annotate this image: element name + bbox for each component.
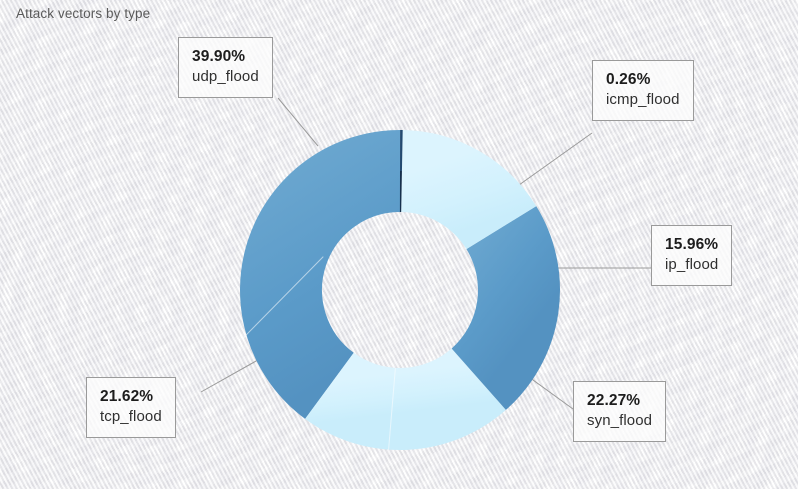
leader-line-tcp (201, 356, 265, 392)
callout-udp_flood[interactable]: 39.90% udp_flood (178, 37, 273, 98)
donut-slice-ip_flood[interactable] (402, 171, 501, 228)
callout-ip_flood[interactable]: 15.96% ip_flood (651, 225, 732, 286)
donut-ring (281, 171, 519, 409)
donut-slice-tcp_flood[interactable] (329, 379, 478, 409)
callout-icmp_flood[interactable]: 0.26% icmp_flood (592, 60, 694, 121)
chart-canvas: Attack vectors by type (0, 0, 798, 489)
callout-ip_flood-label: ip_flood (665, 255, 718, 275)
callout-syn_flood[interactable]: 22.27% syn_flood (573, 381, 666, 442)
callout-udp_flood-label: udp_flood (192, 67, 259, 87)
donut-slice-syn_flood[interactable] (479, 228, 519, 380)
donut-slice-udp_flood[interactable] (281, 171, 400, 386)
callout-udp_flood-percent: 39.90% (192, 47, 259, 67)
callout-ip_flood-percent: 15.96% (665, 235, 718, 255)
callout-icmp_flood-label: icmp_flood (606, 90, 680, 110)
callout-tcp_flood-percent: 21.62% (100, 387, 162, 407)
callout-tcp_flood-label: tcp_flood (100, 407, 162, 427)
callout-icmp_flood-percent: 0.26% (606, 70, 680, 90)
leader-line-udp (278, 98, 318, 146)
callout-syn_flood-label: syn_flood (587, 411, 652, 431)
leader-line-icmp (519, 133, 592, 185)
callout-tcp_flood[interactable]: 21.62% tcp_flood (86, 377, 176, 438)
callout-syn_flood-percent: 22.27% (587, 391, 652, 411)
